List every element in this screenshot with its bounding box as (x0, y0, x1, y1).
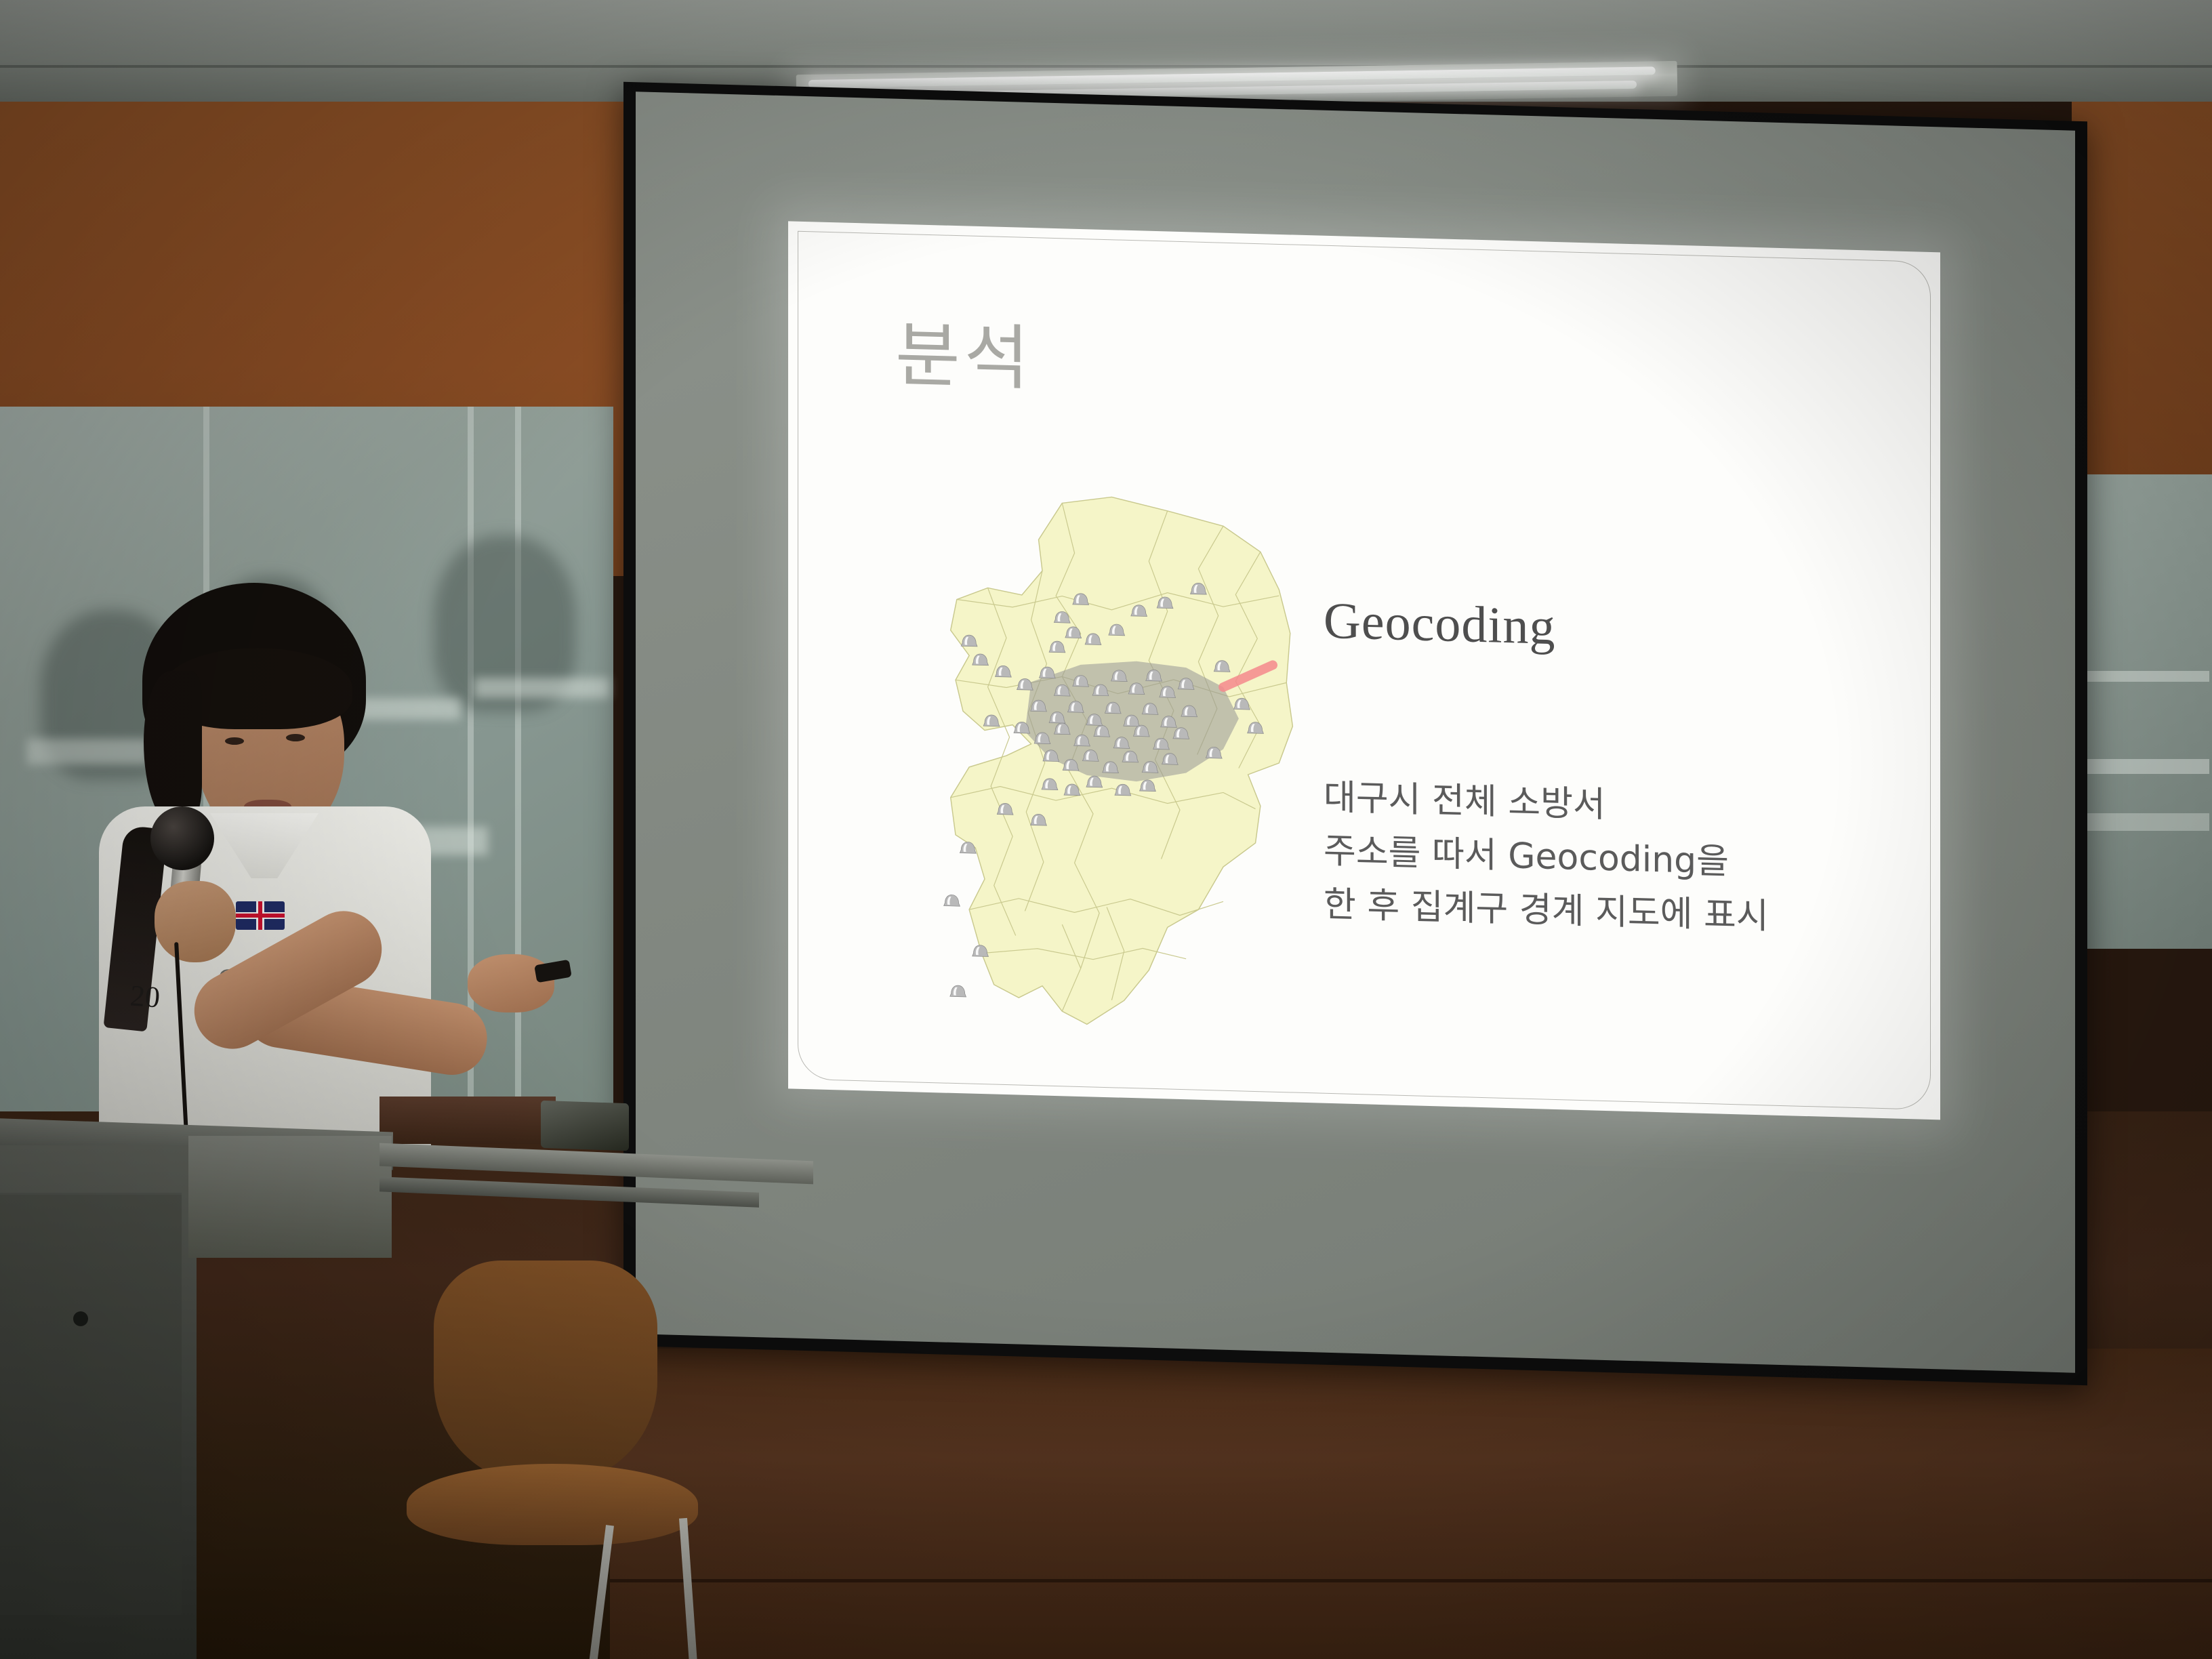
av-console-device[interactable] (541, 1101, 629, 1151)
side-ledge (380, 1097, 556, 1144)
presenter-eye-left (225, 737, 244, 745)
chair-seat (407, 1464, 698, 1545)
map-graphic (876, 454, 1310, 1062)
slide-body-text: 대구시 전체 소방서 주소를 따서 Geocoding을 한 후 집계구 경계 … (1324, 771, 1886, 947)
presenter-hand-with-remote (468, 954, 554, 1012)
screen-surface: 분석 Geocoding 대구시 전체 소방서 주소를 따서 Geocoding… (636, 91, 2075, 1372)
glass-mullion (515, 407, 521, 1125)
daegu-district-map-svg (876, 454, 1310, 1062)
presenter: 20 GR (41, 583, 461, 1152)
wood-wainscot (610, 1349, 2212, 1659)
wood-wainscot-seam (610, 1579, 2212, 1582)
microphone-icon (150, 806, 214, 870)
slide-section-heading: Geocoding (1324, 592, 1555, 657)
map-marker-icon (950, 985, 966, 997)
projection-screen: 분석 Geocoding 대구시 전체 소방서 주소를 따서 Geocoding… (623, 82, 2087, 1385)
slide-title: 분석 (895, 298, 1033, 404)
glass-shelf (2081, 759, 2209, 774)
presenter-hand-with-mic (155, 881, 236, 962)
silhouette-desk (474, 678, 610, 698)
wood-wall-panel-right (2072, 102, 2212, 481)
map-marker-icon (944, 895, 960, 906)
presenter-hair-side (144, 671, 202, 827)
frosted-glass-panel-right (2068, 474, 2212, 949)
photo-scene: 분석 Geocoding 대구시 전체 소방서 주소를 따서 Geocoding… (0, 0, 2212, 1659)
glass-shelf (2081, 671, 2209, 682)
shirt-number: 20 (110, 977, 180, 1017)
chair-backrest (434, 1261, 657, 1484)
podium-knob[interactable] (73, 1311, 88, 1326)
presenter-eye-right (286, 734, 305, 741)
ceiling-seam (0, 65, 2212, 68)
podium-front-panel (0, 1193, 182, 1615)
projected-slide: 분석 Geocoding 대구시 전체 소방서 주소를 따서 Geocoding… (788, 221, 1940, 1120)
glass-shelf (2081, 813, 2209, 831)
podium-rail-block (188, 1136, 392, 1258)
union-jack-icon (236, 901, 285, 930)
